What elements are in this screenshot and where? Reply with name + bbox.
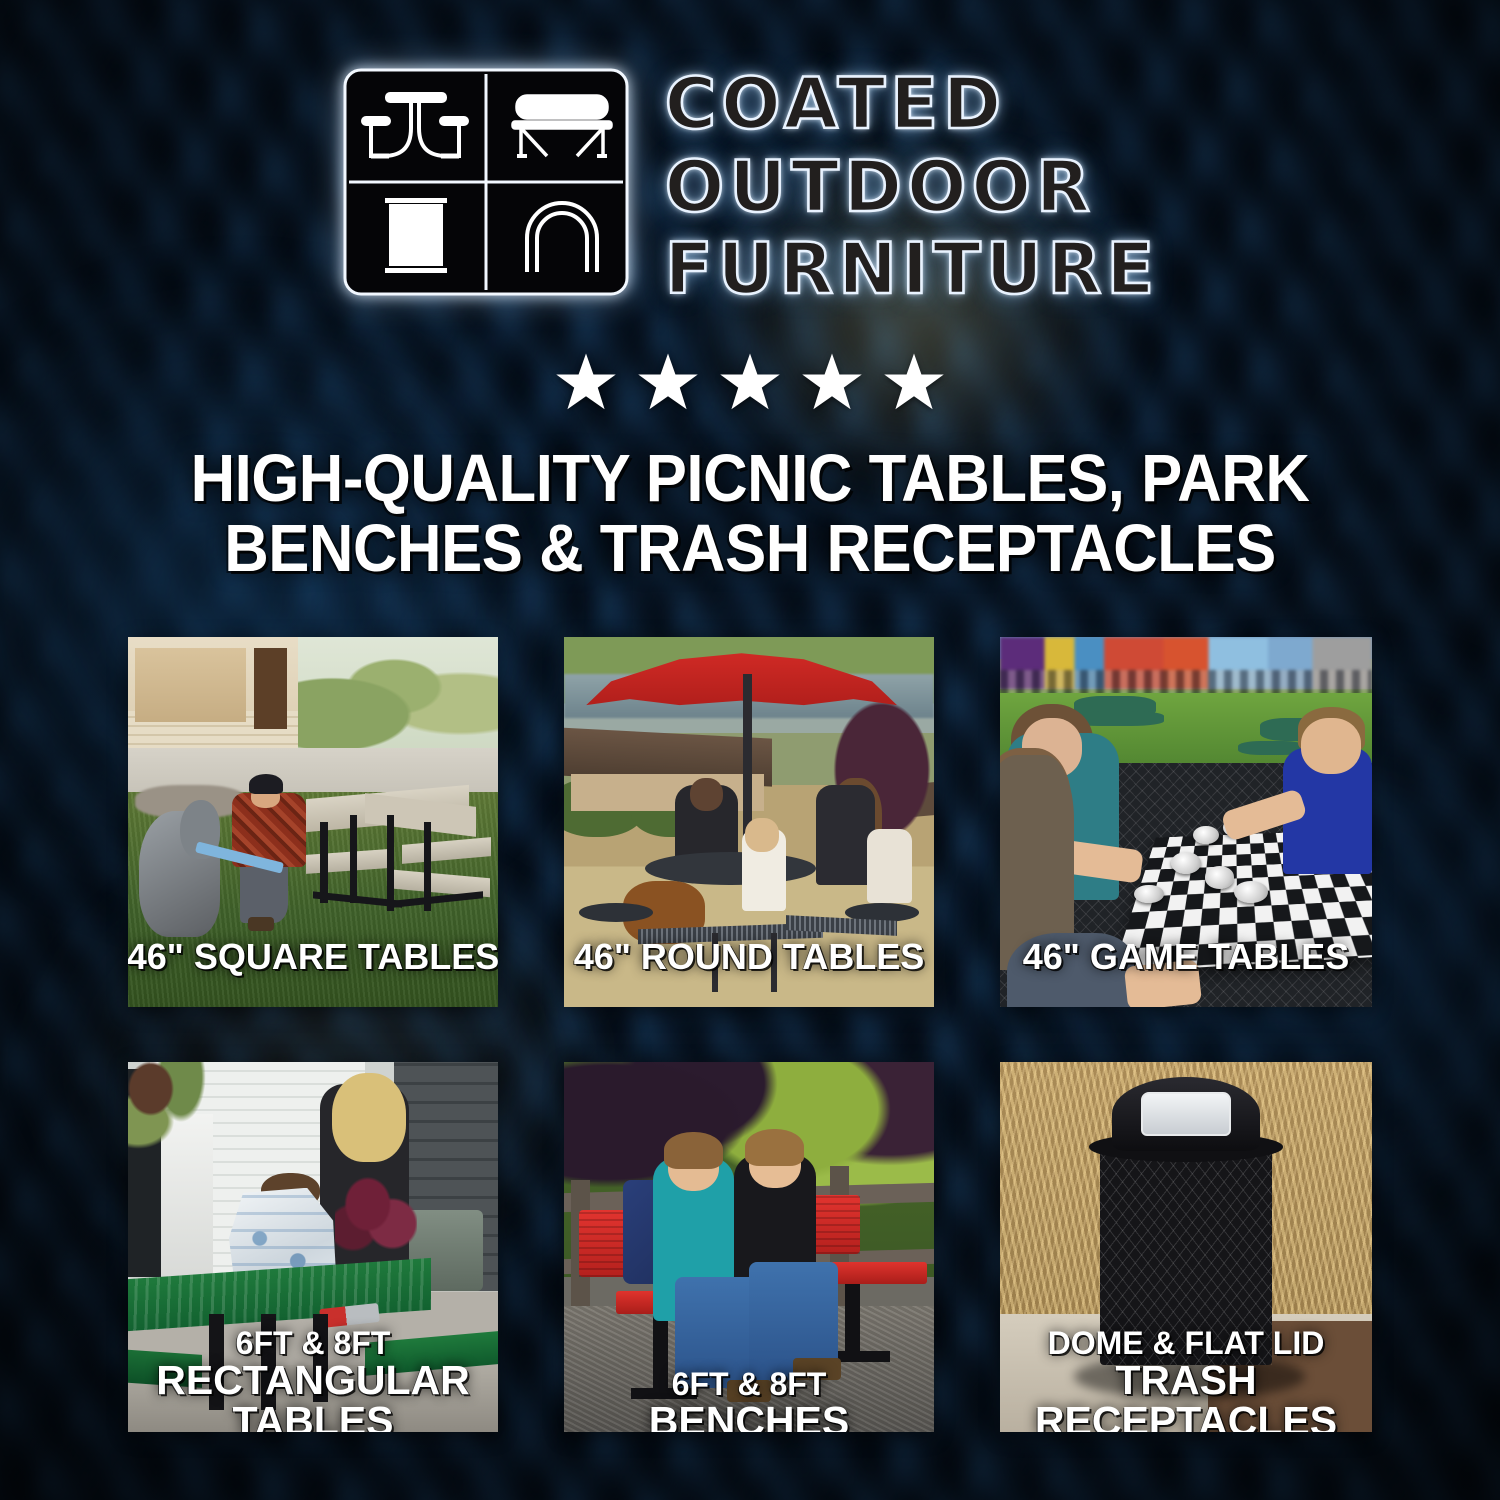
brand-line-2: OUTDOOR — [665, 153, 1160, 222]
photo-benches — [564, 1062, 934, 1432]
photo-rectangular-tables — [128, 1062, 498, 1432]
page-title: HIGH-QUALITY PICNIC TABLES, PARK BENCHES… — [60, 444, 1440, 583]
trash-receptacle-icon — [385, 198, 447, 273]
promotional-banner: COATED OUTDOOR FURNITURE HIGH-QUALITY PI… — [0, 0, 1500, 1500]
product-tile-square-tables[interactable]: 46" SQUARE TABLES — [128, 637, 498, 1007]
photo-square-tables — [128, 637, 498, 1007]
headline-line-1: HIGH-QUALITY PICNIC TABLES, PARK — [60, 444, 1440, 514]
photo-round-tables — [564, 637, 934, 1007]
star-icon — [801, 352, 863, 412]
star-icon — [555, 352, 617, 412]
star-icon — [883, 352, 945, 412]
product-tile-rectangular-tables[interactable]: 6FT & 8FT RECTANGULAR TABLES — [128, 1062, 498, 1432]
product-tile-benches[interactable]: 6FT & 8FT BENCHES — [564, 1062, 934, 1432]
brand-line-1: COATED — [665, 70, 1160, 139]
star-rating — [0, 352, 1500, 412]
photo-trash-receptacles — [1000, 1062, 1372, 1432]
brand-header: COATED OUTDOOR FURNITURE — [0, 66, 1500, 304]
product-category-grid: 46" SQUARE TABLES — [128, 637, 1372, 1432]
headline-line-2: BENCHES & TRASH RECEPTACLES — [60, 514, 1440, 584]
brand-wordmark: COATED OUTDOOR FURNITURE — [665, 66, 1160, 304]
product-tile-round-tables[interactable]: 46" ROUND TABLES — [564, 637, 934, 1007]
product-tile-trash-receptacles[interactable]: DOME & FLAT LID TRASH RECEPTACLES — [1000, 1062, 1372, 1432]
product-tile-game-tables[interactable]: 46" GAME TABLES — [1000, 637, 1372, 1007]
photo-game-tables — [1000, 637, 1372, 1007]
brand-line-3: FURNITURE — [665, 235, 1160, 304]
star-icon — [637, 352, 699, 412]
star-icon — [719, 352, 781, 412]
four-quadrant-outdoor-furniture-logo — [341, 66, 631, 298]
